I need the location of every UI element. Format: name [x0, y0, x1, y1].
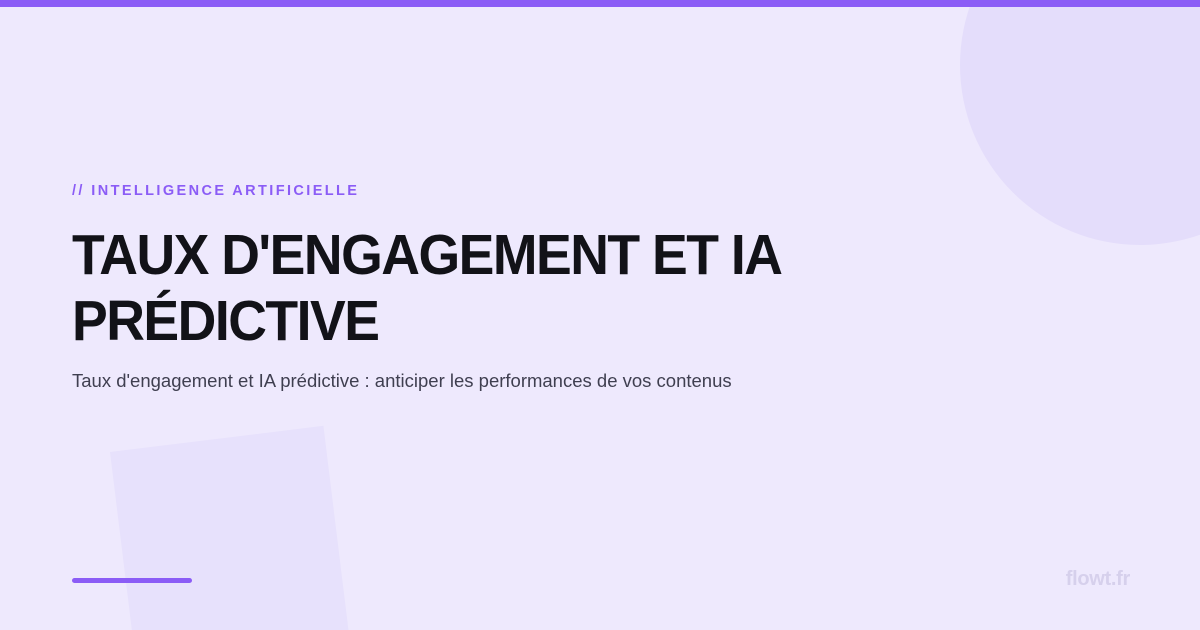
top-accent-bar: [0, 0, 1200, 7]
page-title: Taux d'engagement et IA prédictive: [72, 222, 824, 354]
accent-underline: [72, 578, 192, 583]
og-share-card: // INTELLIGENCE ARTIFICIELLE Taux d'enga…: [0, 0, 1200, 630]
brand-logo: flowt.fr: [1048, 568, 1130, 591]
page-subtitle: Taux d'engagement et IA prédictive : ant…: [72, 368, 972, 394]
category-eyebrow: // INTELLIGENCE ARTIFICIELLE: [72, 183, 359, 199]
card-content: // INTELLIGENCE ARTIFICIELLE Taux d'enga…: [0, 0, 1200, 630]
